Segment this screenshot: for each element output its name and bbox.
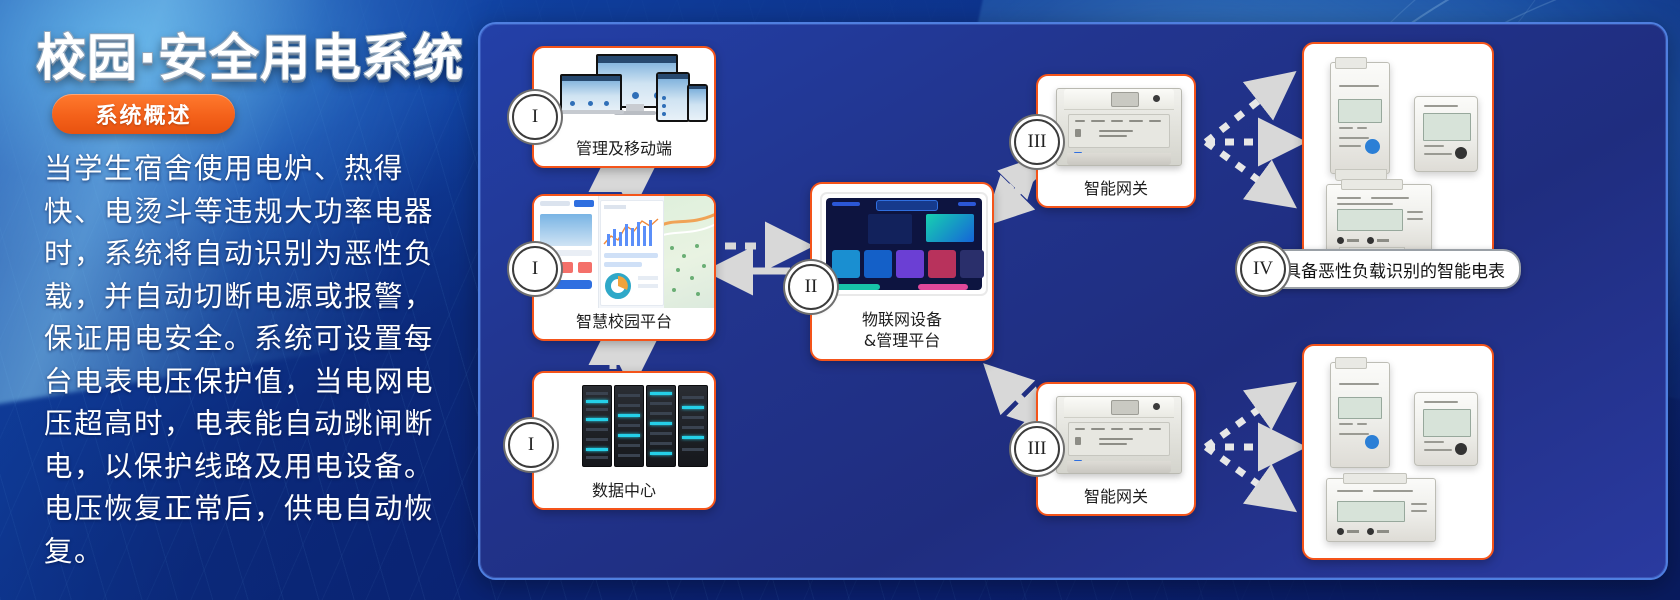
server-racks-icon (534, 373, 714, 473)
poster-root: 校园·安全用电系统 系统概述 当学生宿舍使用电炉、热得快、电烫斗等违规大功率电器… (0, 0, 1680, 600)
dashboard-map-icon (534, 196, 714, 308)
node-label-line1: 物联网设备 (812, 309, 992, 330)
node-label-lines: 物联网设备 &管理平台 (812, 309, 992, 351)
node-label: 智能网关 (1038, 487, 1194, 507)
overview-paragraph: 当学生宿舍使用电炉、热得快、电烫斗等违规大功率电器时，系统将自动识别为恶性负载，… (44, 148, 444, 573)
badge-roman-i-datacenter: I (508, 422, 554, 468)
node-label: 管理及移动端 (534, 139, 714, 159)
meter-group-label-text: 具备恶性负载识别的智能电表 (1284, 257, 1505, 282)
badge-roman-i-management: I (512, 94, 558, 140)
meter-panel-bottom[interactable] (1302, 344, 1494, 560)
din-gateway-icon (1038, 384, 1194, 480)
node-gateway-bottom[interactable]: 智能网关 (1036, 382, 1196, 516)
meter-group-label[interactable]: 具备恶性负载识别的智能电表 (1246, 249, 1521, 289)
badge-roman-ii-iot: II (788, 264, 834, 310)
badge-roman-iv-meters: IV (1240, 246, 1286, 292)
badge-roman-i-campus: I (512, 246, 558, 292)
node-iot-platform[interactable]: 物联网设备 &管理平台 (810, 182, 994, 361)
page-title: 校园·安全用电系统 (36, 18, 466, 90)
section-pill-system-overview: 系统概述 (52, 94, 235, 134)
node-label: 智慧校园平台 (534, 312, 714, 332)
architecture-diagram-panel: 管理及移动端 I (478, 22, 1668, 580)
node-smart-campus[interactable]: 智慧校园平台 (532, 194, 716, 341)
din-gateway-icon (1038, 76, 1194, 172)
node-gateway-top[interactable]: 智能网关 (1036, 74, 1196, 208)
node-label-line2: &管理平台 (812, 330, 992, 351)
meter-panel-top[interactable] (1302, 42, 1494, 268)
node-label: 智能网关 (1038, 179, 1194, 199)
devices-responsive-icon (534, 48, 714, 132)
left-column: 校园·安全用电系统 系统概述 当学生宿舍使用电炉、热得快、电烫斗等违规大功率电器… (0, 0, 470, 600)
node-data-center[interactable]: 数据中心 (532, 371, 716, 510)
section-pill-label: 系统概述 (95, 98, 191, 130)
node-management-mobile[interactable]: 管理及移动端 (532, 46, 716, 168)
badge-roman-iii-gateway-top: III (1014, 119, 1060, 165)
tablet-dashboard-icon (812, 184, 992, 318)
badge-roman-iii-gateway-bottom: III (1014, 426, 1060, 472)
node-label: 数据中心 (534, 481, 714, 501)
